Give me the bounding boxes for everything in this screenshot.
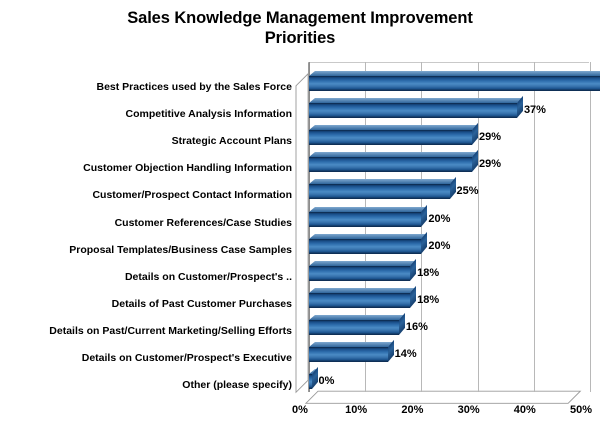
value-axis-label: 0% [280, 404, 320, 417]
bar-value-label: 16% [406, 321, 428, 333]
bar-front-face [309, 266, 410, 281]
bar[interactable] [296, 179, 594, 196]
bar[interactable] [296, 125, 594, 142]
plot-area: 61%37%29%29%25%20%20%18%18%16%14%0% [296, 62, 594, 410]
category-label: Strategic Account Plans [0, 135, 292, 147]
bar-value-label: 37% [524, 104, 546, 116]
bar-front-face [309, 293, 410, 308]
bar-front-face [309, 76, 600, 91]
bar-front-face [309, 320, 399, 335]
category-label: Details on Customer/Prospect's Executive [0, 352, 292, 364]
value-axis-label: 10% [336, 404, 376, 417]
bar-front-face [309, 239, 421, 254]
bar-front-face [309, 347, 388, 362]
bar[interactable] [296, 288, 594, 305]
category-label: Competitive Analysis Information [0, 108, 292, 120]
category-label: Customer Objection Handling Information [0, 162, 292, 174]
category-label: Other (please specify) [0, 379, 292, 391]
category-label: Details on Past/Current Marketing/Sellin… [0, 325, 292, 337]
chart-title-line-2: Priorities [40, 28, 560, 48]
bar[interactable] [296, 315, 594, 332]
bar-front-face [309, 212, 421, 227]
bar-value-label: 0% [319, 375, 335, 387]
value-axis-label: 50% [561, 404, 600, 417]
category-label: Proposal Templates/Business Case Samples [0, 244, 292, 256]
bar[interactable] [296, 152, 594, 169]
value-axis-label: 20% [392, 404, 432, 417]
bar-front-face [309, 130, 472, 145]
bar-value-label: 18% [417, 267, 439, 279]
category-label: Customer/Prospect Contact Information [0, 189, 292, 201]
bar[interactable] [296, 71, 594, 88]
bar-value-label: 14% [395, 348, 417, 360]
category-label: Details of Past Customer Purchases [0, 298, 292, 310]
bar[interactable] [296, 261, 594, 278]
bar-front-face [309, 157, 472, 172]
bar-value-label: 29% [479, 158, 501, 170]
category-label: Customer References/Case Studies [0, 217, 292, 229]
bar-front-face [309, 184, 450, 199]
bar-value-label: 29% [479, 131, 501, 143]
chart-title-line-1: Sales Knowledge Management Improvement [40, 8, 560, 28]
value-axis-label: 30% [449, 404, 489, 417]
bar[interactable] [296, 342, 594, 359]
category-label: Best Practices used by the Sales Force [0, 81, 292, 93]
bar[interactable] [296, 369, 594, 386]
bar[interactable] [296, 98, 594, 115]
value-axis-label: 40% [505, 404, 545, 417]
bar-value-label: 20% [428, 213, 450, 225]
bar-value-label: 20% [428, 240, 450, 252]
bar-front-face [309, 103, 517, 118]
bar-value-label: 25% [457, 185, 479, 197]
bar-chart: Sales Knowledge Management Improvement P… [0, 0, 600, 442]
bar-value-label: 18% [417, 294, 439, 306]
value-axis: 0%10%20%30%40%50% [296, 404, 596, 426]
category-label: Details on Customer/Prospect's .. [0, 271, 292, 283]
category-axis: Best Practices used by the Sales ForceCo… [0, 78, 296, 394]
chart-title: Sales Knowledge Management Improvement P… [40, 8, 560, 48]
bars-layer: 61%37%29%29%25%20%20%18%18%16%14%0% [296, 62, 594, 410]
